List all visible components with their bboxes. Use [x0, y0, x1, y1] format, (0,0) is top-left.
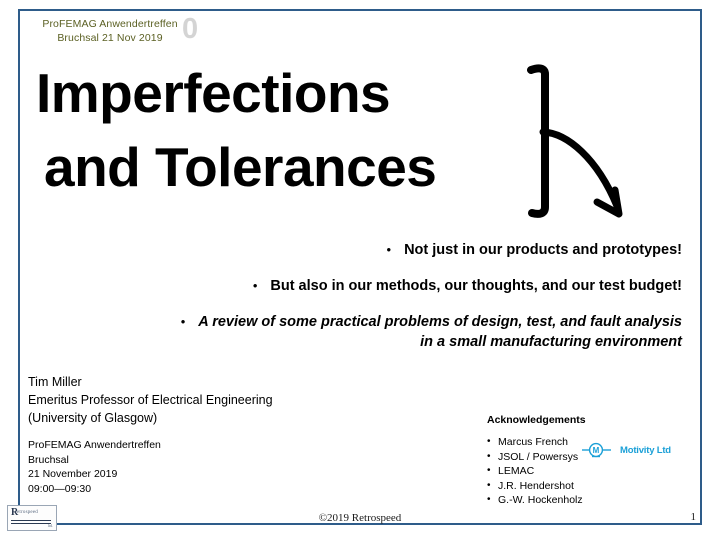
author-affiliation: (University of Glasgow) — [28, 409, 273, 427]
slide-canvas: ProFEMAG Anwendertreffen Bruchsal 21 Nov… — [0, 0, 720, 540]
bullet-text: But also in our methods, our thoughts, a… — [270, 276, 682, 296]
acknowledgement-text: G.-W. Hockenholz — [498, 493, 583, 508]
acknowledgement-text: J.R. Hendershot — [498, 479, 574, 494]
list-item: • G.-W. Hockenholz — [487, 493, 687, 508]
acknowledgement-text: LEMAC — [498, 464, 534, 479]
acknowledgements-title: Acknowledgements — [487, 414, 687, 426]
motivity-logo-text: Motivity Ltd — [620, 445, 671, 456]
bullet-dot-icon: • — [487, 493, 498, 508]
list-item: • Not just in our products and prototype… — [120, 240, 682, 260]
bullet-dot-icon: • — [487, 435, 498, 450]
acknowledgement-text: JSOL / Powersys — [498, 450, 578, 465]
hand-drawn-arrow-icon — [505, 62, 655, 230]
bullet-text-line-2: in a small manufacturing environment — [198, 332, 682, 352]
event-date: 21 November 2019 — [28, 467, 161, 482]
bullet-text-italic: A review of some practical problems of d… — [198, 312, 682, 352]
acknowledgement-text: Marcus French — [498, 435, 568, 450]
bullet-text: Not just in our products and prototypes! — [404, 240, 682, 260]
bullet-dot-icon: • — [181, 312, 186, 332]
bullet-dot-icon: • — [253, 276, 258, 296]
list-item: • J.R. Hendershot — [487, 479, 687, 494]
title-line-2: and Tolerances — [36, 130, 506, 204]
event-time: 09:00—09:30 — [28, 482, 161, 497]
title-line-1: Imperfections — [36, 56, 506, 130]
section-number-badge: 0 — [182, 14, 198, 44]
bullet-list: • Not just in our products and prototype… — [120, 240, 682, 368]
bullet-dot-icon: • — [487, 450, 498, 465]
bullet-text-line-1: A review of some practical problems of d… — [198, 314, 682, 330]
page-number: 1 — [691, 511, 697, 523]
event-name: ProFEMAG Anwendertreffen — [28, 438, 161, 453]
list-item: • But also in our methods, our thoughts,… — [120, 276, 682, 296]
svg-text:M: M — [593, 446, 600, 455]
bullet-dot-icon: • — [487, 464, 498, 479]
author-title: Emeritus Professor of Electrical Enginee… — [28, 391, 273, 409]
acknowledgements-block: Acknowledgements • Marcus French • JSOL … — [487, 414, 687, 508]
list-item: • A review of some practical problems of… — [120, 312, 682, 352]
bullet-dot-icon: • — [387, 240, 392, 260]
event-location: Bruchsal — [28, 453, 161, 468]
bullet-dot-icon: • — [487, 479, 498, 494]
header-line-2: Bruchsal 21 Nov 2019 — [30, 31, 190, 45]
event-block: ProFEMAG Anwendertreffen Bruchsal 21 Nov… — [28, 438, 161, 496]
list-item: • LEMAC — [487, 464, 687, 479]
page-title: Imperfections and Tolerances — [36, 56, 506, 204]
author-name: Tim Miller — [28, 373, 273, 391]
header-line-1: ProFEMAG Anwendertreffen — [30, 17, 190, 31]
author-block: Tim Miller Emeritus Professor of Electri… — [28, 373, 273, 427]
motivity-logo: M Motivity Ltd — [582, 440, 682, 460]
header-meta: ProFEMAG Anwendertreffen Bruchsal 21 Nov… — [30, 17, 190, 45]
motor-symbol-icon: M — [582, 441, 618, 459]
copyright-text: ©2019 Retrospeed — [0, 512, 720, 524]
